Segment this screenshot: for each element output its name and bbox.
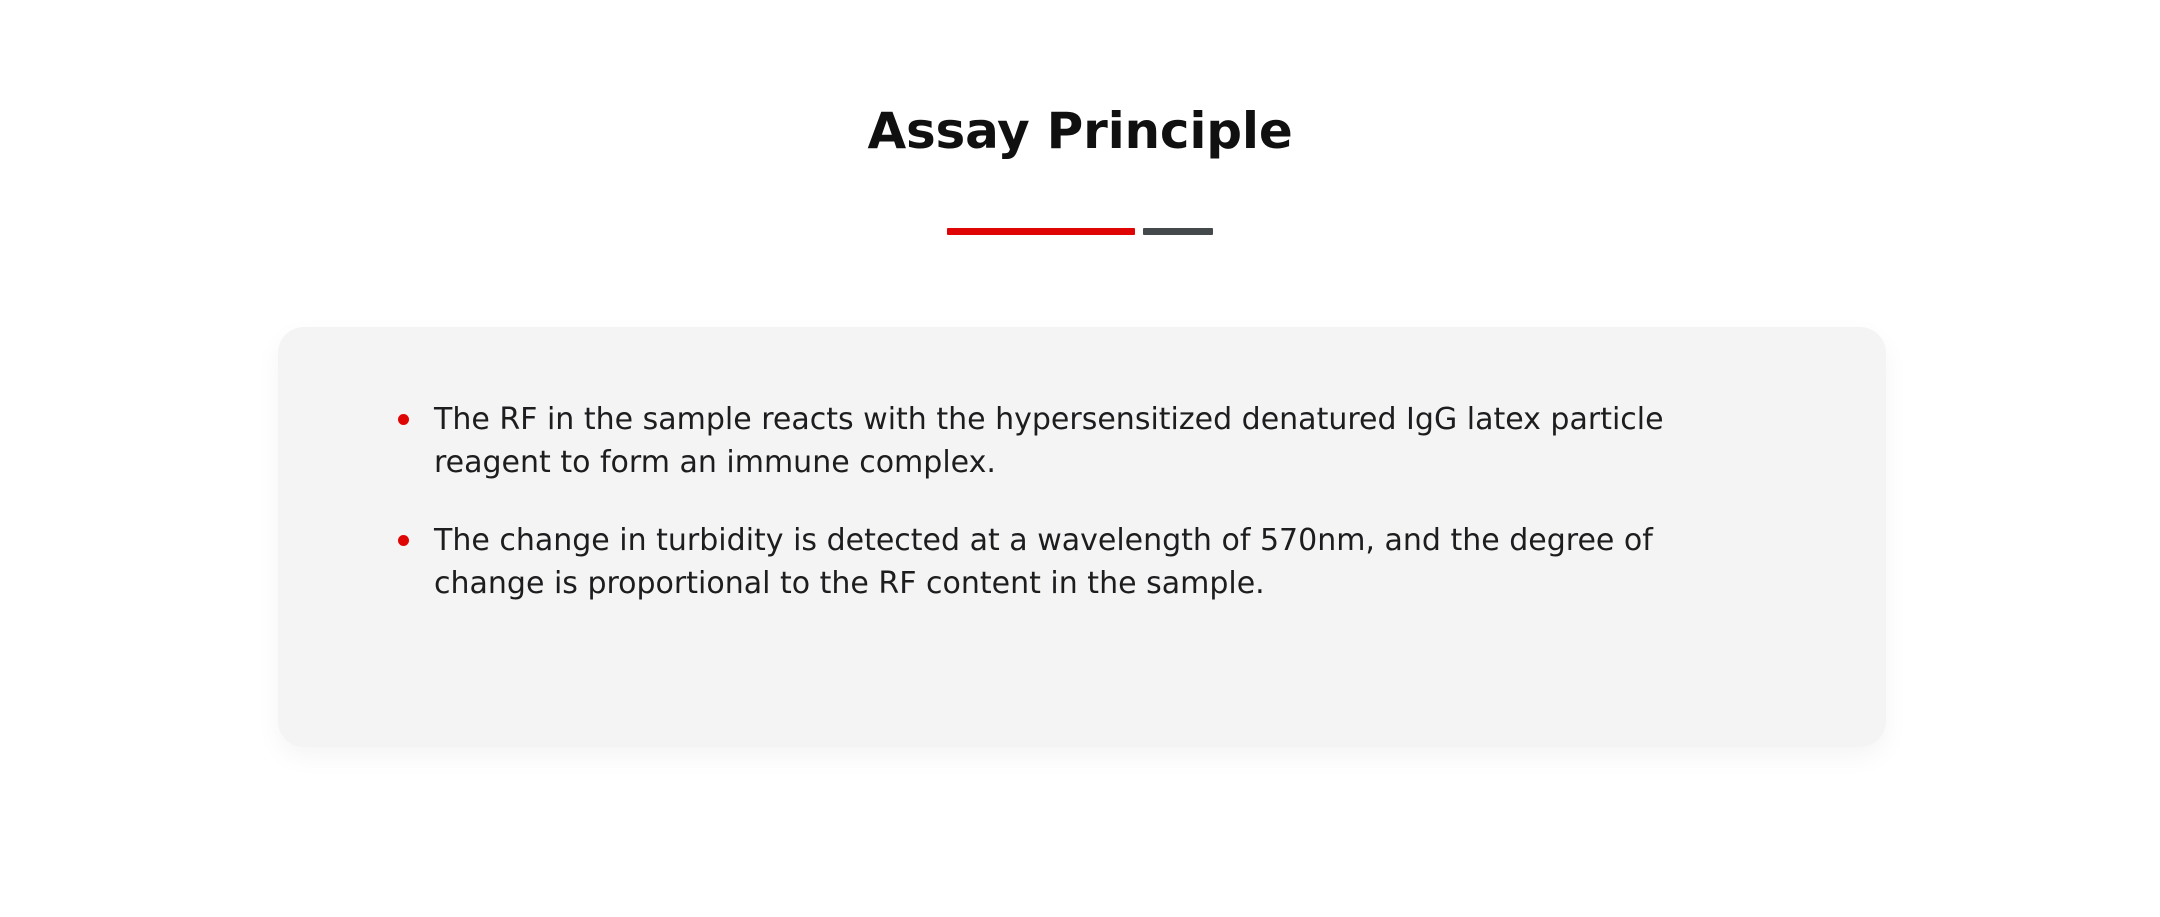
- list-item-text: The RF in the sample reacts with the hyp…: [434, 402, 1664, 480]
- slide-root: Assay Principle The RF in the sample rea…: [0, 0, 2160, 917]
- bullet-dot-icon: [398, 414, 409, 425]
- divider-secondary-segment: [1143, 228, 1213, 235]
- list-item-text: The change in turbidity is detected at a…: [434, 523, 1653, 601]
- list-item: The RF in the sample reacts with the hyp…: [398, 399, 1754, 484]
- bullet-dot-icon: [398, 535, 409, 546]
- divider-primary-segment: [947, 228, 1135, 235]
- title-block: Assay Principle: [0, 104, 2160, 159]
- list-item: The change in turbidity is detected at a…: [398, 520, 1754, 605]
- assay-principle-card: The RF in the sample reacts with the hyp…: [278, 327, 1886, 747]
- page-title: Assay Principle: [0, 104, 2160, 159]
- title-divider: [0, 228, 2160, 235]
- assay-principle-bullet-list: The RF in the sample reacts with the hyp…: [398, 399, 1796, 605]
